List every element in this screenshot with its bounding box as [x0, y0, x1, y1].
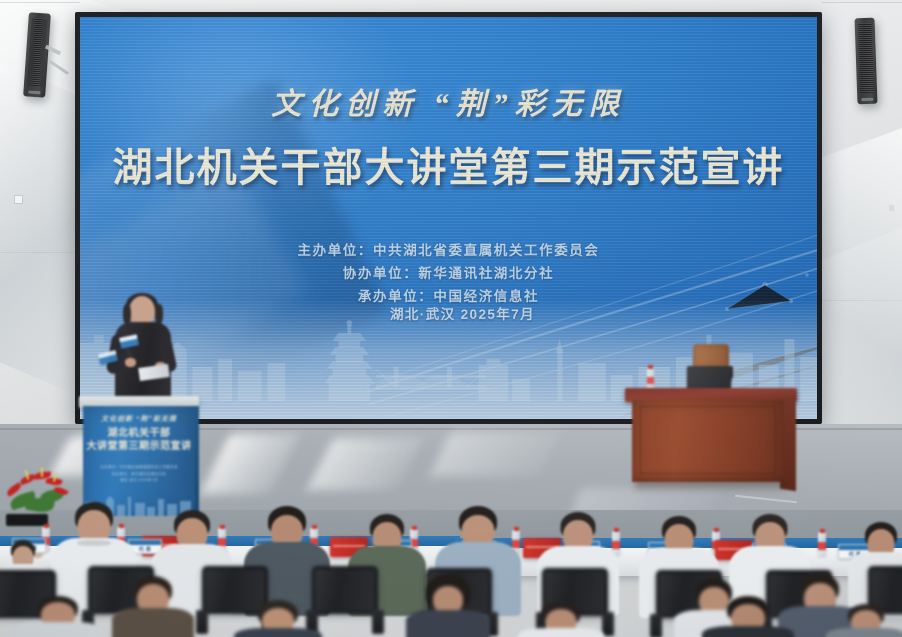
screen-organizer-line-2: 协办单位：新华通讯社湖北分社 — [80, 262, 817, 285]
screen-organizer-line-1: 主办单位：中共湖北省委直属机关工作委员会 — [80, 239, 817, 262]
audience-member — [110, 576, 196, 637]
presenter-speaker — [103, 296, 181, 404]
desk-floor-shadow — [635, 480, 785, 492]
podium-organizer-block: 主办单位：中共湖北省委直属机关工作委员会 协办单位：新华通讯社湖北分社 湖北·武… — [83, 464, 195, 484]
line-array-speaker-right — [855, 18, 878, 105]
floor-light-patch-2 — [200, 434, 299, 494]
floor-light-patch-4 — [430, 432, 561, 476]
audience-member — [10, 596, 106, 637]
wall-fitting-right — [889, 205, 894, 211]
podium-calligraphy-line: 文化创新 “荆”彩无限 — [83, 414, 195, 424]
podium-title: 湖北机关干部 大讲堂第三期示范宣讲 — [83, 428, 195, 453]
audience-member — [404, 574, 492, 637]
flower-planter — [6, 514, 48, 526]
presenter-hand-left — [125, 358, 136, 367]
audience-member — [232, 600, 324, 637]
podium-front-panel: 文化创新 “荆”彩无限 湖北机关干部 大讲堂第三期示范宣讲 主办单位：中共湖北省… — [83, 406, 195, 516]
screen-main-title: 湖北机关干部大讲堂第三期示范宣讲 — [80, 135, 817, 193]
floor-light-patch-3 — [307, 438, 423, 490]
audience-member — [700, 596, 796, 637]
conference-stage-photo: 文化创新 “荆”彩无限 湖北机关干部大讲堂第三期示范宣讲 主办单位：中共湖北省委… — [0, 0, 902, 637]
speaker-podium: 文化创新 “荆”彩无限 湖北机关干部 大讲堂第三期示范宣讲 主办单位：中共湖北省… — [83, 396, 195, 516]
podium-organizer-line-1: 主办单位：中共湖北省委直属机关工作委员会 — [83, 464, 195, 471]
podium-title-line-2: 大讲堂第三期示范宣讲 — [83, 441, 195, 454]
desk-front-panel — [632, 400, 784, 482]
water-bottle — [818, 532, 826, 556]
speaker-desk — [625, 388, 797, 504]
screen-calligraphy-headline: 文化创新 “荆”彩无限 — [80, 79, 817, 123]
wall-outlet-left — [14, 195, 23, 204]
laptop-screen — [687, 366, 731, 390]
screen-place-date: 湖北·武汉 2025年7月 — [80, 303, 817, 323]
audience-member — [516, 602, 606, 637]
podium-organizer-line-2: 协办单位：新华通讯社湖北分社 — [83, 471, 195, 478]
audience-member — [824, 604, 902, 637]
podium-title-line-1: 湖北机关干部 — [83, 428, 195, 441]
podium-organizer-line-3: 湖北·武汉 2025年7月 — [83, 477, 195, 484]
desk-water-bottle — [647, 368, 654, 389]
screen-organizer-block: 主办单位：中共湖北省委直属机关工作委员会 协办单位：新华通讯社湖北分社 承办单位… — [80, 239, 817, 309]
